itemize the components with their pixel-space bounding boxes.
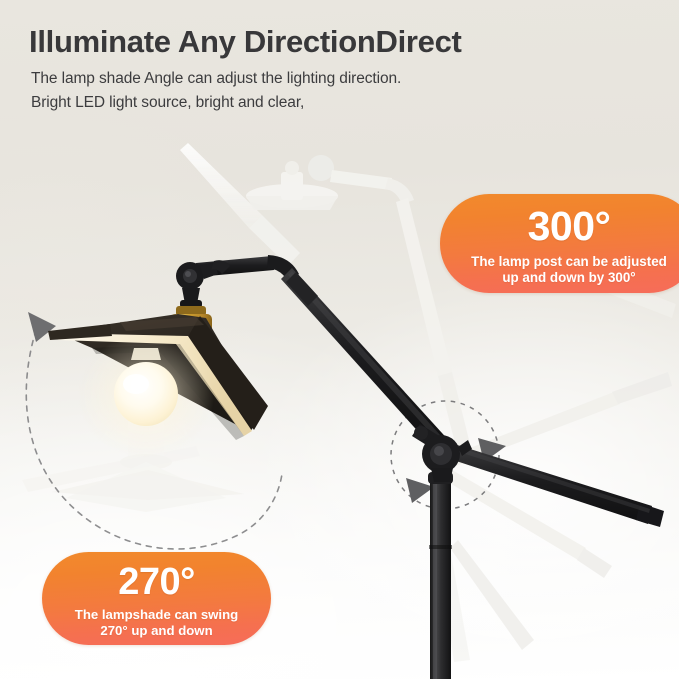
- badge-300-description-line-1: The lamp post can be adjusted: [440, 247, 679, 270]
- light-bulb: [78, 334, 214, 458]
- lamp-pole: [428, 472, 453, 679]
- badge-270-description-line-1: The lampshade can swing: [42, 601, 271, 623]
- shade-pivot-joint: [176, 260, 230, 308]
- badge-270-description-line-2: 270° up and down: [42, 623, 271, 639]
- product-feature-image: Illuminate Any DirectionDirect The lamp …: [0, 0, 679, 679]
- page-title: Illuminate Any DirectionDirect: [29, 24, 462, 60]
- badge-300-value: 300°: [440, 194, 679, 247]
- subtitle-line-1: The lamp shade Angle can adjust the ligh…: [31, 70, 401, 88]
- badge-300-description-line-2: up and down by 300°: [440, 270, 679, 286]
- badge-300-degrees: 300° The lamp post can be adjusted up an…: [440, 194, 679, 293]
- subtitle-line-2: Bright LED light source, bright and clea…: [31, 94, 304, 112]
- badge-270-value: 270°: [42, 552, 271, 601]
- badge-270-degrees: 270° The lampshade can swing 270° up and…: [42, 552, 271, 645]
